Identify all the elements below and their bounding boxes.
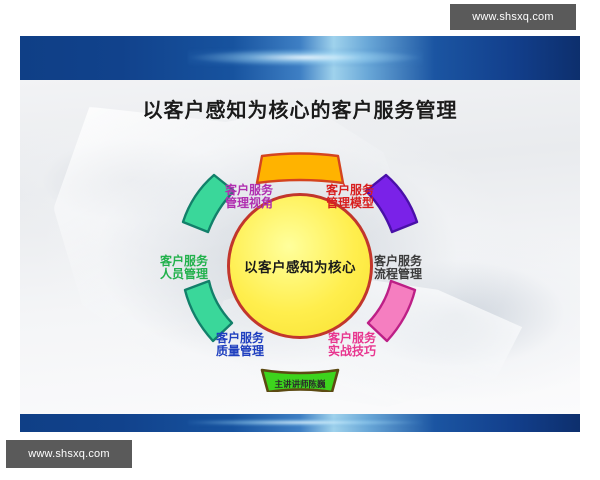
spoke-label-process-management: 客户服务 流程管理 (374, 255, 422, 282)
spoke-label-line1: 客户服务 (160, 254, 208, 268)
spoke-label-personnel-management: 客户服务 人员管理 (160, 255, 208, 282)
arc-top (257, 154, 343, 184)
center-circle: 以客户感知为核心 (227, 193, 373, 339)
spoke-label-management-model: 客户服务 管理模型 (326, 184, 374, 211)
slide-canvas: 以客户感知为核心的客户服务管理 (20, 36, 580, 432)
spoke-label-line2: 人员管理 (160, 268, 208, 281)
watermark-bottom: www.shsxq.com (6, 440, 132, 468)
page-title: 以客户感知为核心的客户服务管理 (20, 94, 580, 123)
spoke-label-line2: 管理视角 (225, 197, 273, 210)
spoke-label-management-perspective: 客户服务 管理视角 (225, 184, 273, 211)
center-circle-label: 以客户感知为核心 (244, 256, 356, 276)
watermark-top: www.shsxq.com (450, 4, 576, 30)
spoke-label-line1: 客户服务 (326, 183, 374, 197)
spoke-label-line2: 流程管理 (374, 268, 422, 281)
spoke-label-line1: 客户服务 (328, 331, 376, 345)
presenter-caption: 主讲讲师陈巍 (140, 378, 460, 390)
spoke-label-practical-skills: 客户服务 实战技巧 (328, 332, 376, 359)
top-banner-bar (20, 36, 580, 80)
service-management-wheel-diagram: 以客户感知为核心 客户服务 管理视角 客户服务 管理模型 客户服务 流程管理 客… (140, 142, 460, 392)
spoke-label-line2: 管理模型 (326, 197, 374, 210)
spoke-label-quality-management: 客户服务 质量管理 (216, 332, 264, 359)
spoke-label-line1: 客户服务 (374, 254, 422, 268)
spoke-label-line2: 质量管理 (216, 345, 264, 358)
spoke-label-line1: 客户服务 (225, 183, 273, 197)
spoke-label-line2: 实战技巧 (328, 345, 376, 358)
spoke-label-line1: 客户服务 (216, 331, 264, 345)
bottom-banner-bar (20, 414, 580, 432)
